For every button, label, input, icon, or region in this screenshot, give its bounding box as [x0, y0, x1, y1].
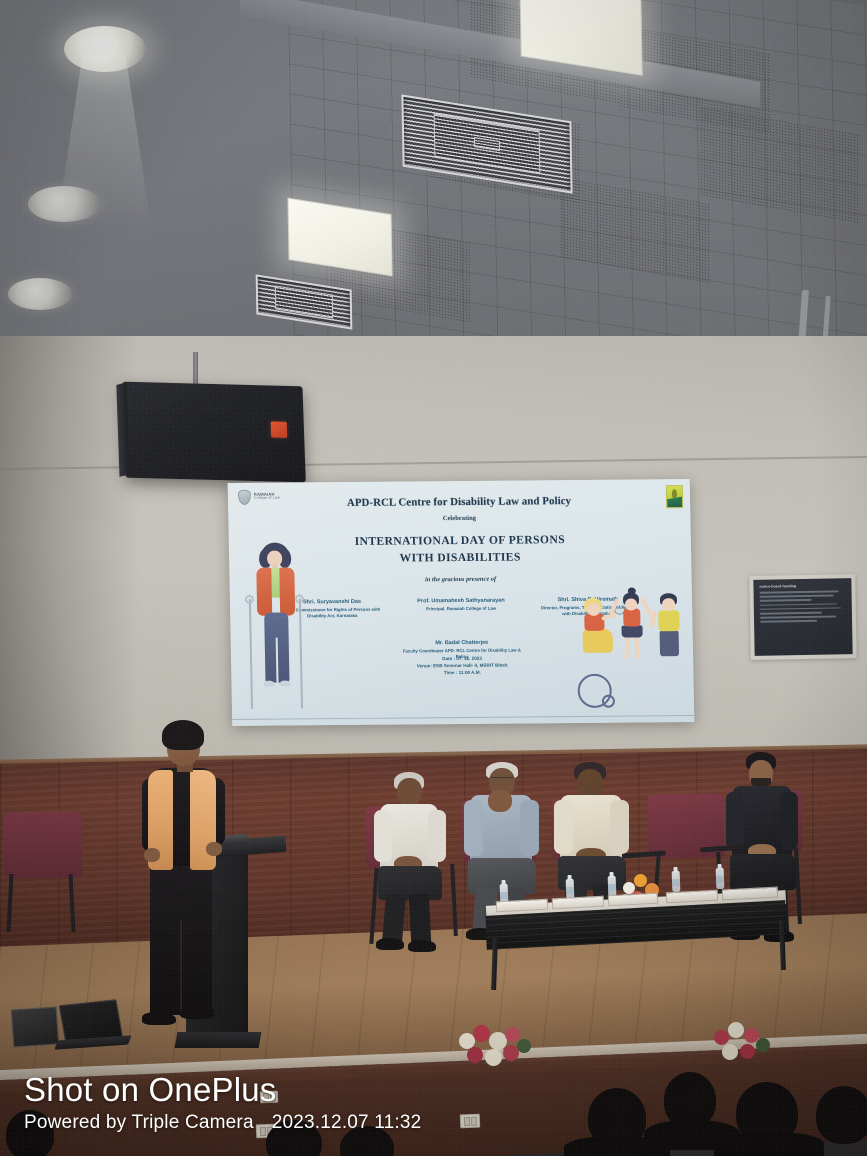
- event-photograph: notice-board-heading RAMAIAH College of …: [0, 0, 867, 1156]
- notice-line: [760, 616, 836, 619]
- ceiling: [0, 0, 867, 360]
- guest-role: Principal, Ramaiah College of Law: [398, 606, 524, 613]
- crutch-cuff-icon: [295, 594, 304, 603]
- orange-jacket-left: [256, 568, 272, 616]
- child3-legs: [660, 630, 679, 656]
- face: [577, 769, 603, 798]
- camera-watermark-brand: Shot on OnePlus: [24, 1071, 277, 1109]
- child3-face: [662, 598, 675, 611]
- face: [397, 778, 422, 806]
- child1-face: [587, 603, 600, 616]
- stage-front-bouquet-right: [712, 1020, 784, 1076]
- presentation-slide: RAMAIAH College of Law APD-RCL Centre fo…: [228, 479, 695, 726]
- slide-ground-line: [232, 714, 694, 720]
- foliage: [517, 1039, 531, 1053]
- arm-right: [780, 792, 798, 850]
- seated-panelist-1: [368, 770, 454, 950]
- arm-left: [374, 810, 392, 862]
- arm-left: [464, 800, 483, 856]
- child1-legs: [583, 629, 613, 653]
- shoe: [408, 940, 436, 952]
- audience-head: [816, 1086, 867, 1144]
- flower-white: [485, 1049, 502, 1066]
- notice-line: [760, 612, 822, 615]
- notice-line: [760, 607, 841, 610]
- child2-torso: [623, 608, 640, 626]
- shoe: [376, 938, 404, 950]
- notice-line: [760, 620, 817, 623]
- notice-line: [760, 599, 812, 601]
- hand-left: [144, 848, 160, 862]
- arm-right: [610, 800, 629, 854]
- flower-red: [467, 1047, 483, 1063]
- shin: [409, 894, 432, 945]
- arm-right: [428, 810, 446, 862]
- bottle-label: [716, 876, 724, 883]
- notice-board-panel: notice-board-heading: [753, 578, 852, 656]
- ceiling-downlight: [8, 278, 72, 310]
- child3-torso: [658, 610, 679, 631]
- crutch-cuff-icon: [245, 595, 254, 604]
- slide-title: APD-RCL Centre for Disability Law and Po…: [228, 494, 690, 510]
- arm-left: [554, 800, 573, 854]
- power-outlet[interactable]: [460, 1114, 480, 1129]
- notice-board[interactable]: notice-board-heading: [749, 574, 856, 660]
- water-bottle[interactable]: [716, 868, 725, 889]
- bottle-label: [500, 892, 508, 899]
- bottle-label: [566, 887, 574, 894]
- bottle-label: [672, 879, 680, 886]
- hands-clasped: [488, 790, 512, 812]
- shin: [382, 893, 406, 945]
- hvac-vent-inner: [434, 114, 541, 175]
- crutch-icon: [249, 599, 253, 709]
- child2-leg: [626, 637, 630, 659]
- camera-watermark-subline: Powered by Triple Camera 2023.12.07 11:3…: [24, 1112, 421, 1134]
- hvac-vent-core: [474, 137, 499, 151]
- speaker-brand-badge: [271, 422, 288, 438]
- wheelchair-caster-icon: [602, 695, 615, 708]
- slide-celebrating: Celebrating: [228, 513, 690, 524]
- flower-pink: [505, 1027, 520, 1042]
- shoe: [180, 1006, 214, 1019]
- audience-shoulders: [714, 1132, 824, 1156]
- child2-face: [625, 598, 637, 610]
- notice-line: [760, 595, 834, 598]
- camera-watermark-timestamp: 2023.12.07 11:32: [272, 1112, 422, 1134]
- crutch-icon: [299, 598, 303, 708]
- child2-leg: [635, 636, 639, 658]
- flower-red: [473, 1025, 490, 1042]
- flower-white: [728, 1022, 744, 1038]
- guest-entry: Prof. Umamahesh Sathyanarayan Principal,…: [398, 597, 524, 612]
- stage-front-bouquet-left: [455, 1025, 537, 1085]
- notice-board-title: notice-board-heading: [759, 583, 845, 589]
- flower-red: [740, 1044, 755, 1059]
- notice-line: [760, 590, 839, 593]
- child2-skirt: [621, 625, 642, 637]
- orange-jacket-right: [279, 567, 295, 615]
- flower-orange: [634, 874, 647, 887]
- projection-screen: RAMAIAH College of Law APD-RCL Centre fo…: [228, 479, 695, 726]
- woman-with-crutches-illustration: [244, 542, 309, 715]
- shoe: [142, 1012, 176, 1025]
- child2-arm-right: [640, 597, 651, 615]
- leg-gap: [180, 920, 182, 1015]
- three-children-illustration: [570, 587, 690, 710]
- foliage: [756, 1038, 770, 1052]
- glasses-icon: [490, 777, 514, 782]
- hair-dark: [162, 720, 204, 750]
- monitor-on-stage[interactable]: [11, 1006, 60, 1047]
- shoe: [279, 680, 290, 686]
- water-bottle[interactable]: [672, 871, 681, 892]
- podium-speaker-person: [120, 720, 230, 1050]
- ceiling-downlight: [28, 186, 100, 222]
- hand-right: [206, 842, 222, 856]
- guest-name: Prof. Umamahesh Sathyanarayan: [398, 597, 524, 605]
- arm-right: [520, 800, 539, 856]
- hvac-vent-inner: [274, 286, 333, 318]
- shoe: [263, 681, 274, 687]
- flower-red: [714, 1030, 729, 1045]
- bottle-label: [608, 884, 616, 891]
- camera-watermark-tagline: Powered by Triple Camera: [24, 1112, 254, 1134]
- notice-line: [760, 603, 837, 606]
- arm-left: [726, 792, 744, 850]
- flower-white: [722, 1044, 738, 1060]
- guest-name: Mr. Badal Chatterjee: [399, 639, 525, 647]
- ceiling-loudspeaker: [122, 382, 306, 483]
- empty-chair-maroon[interactable]: [3, 811, 82, 878]
